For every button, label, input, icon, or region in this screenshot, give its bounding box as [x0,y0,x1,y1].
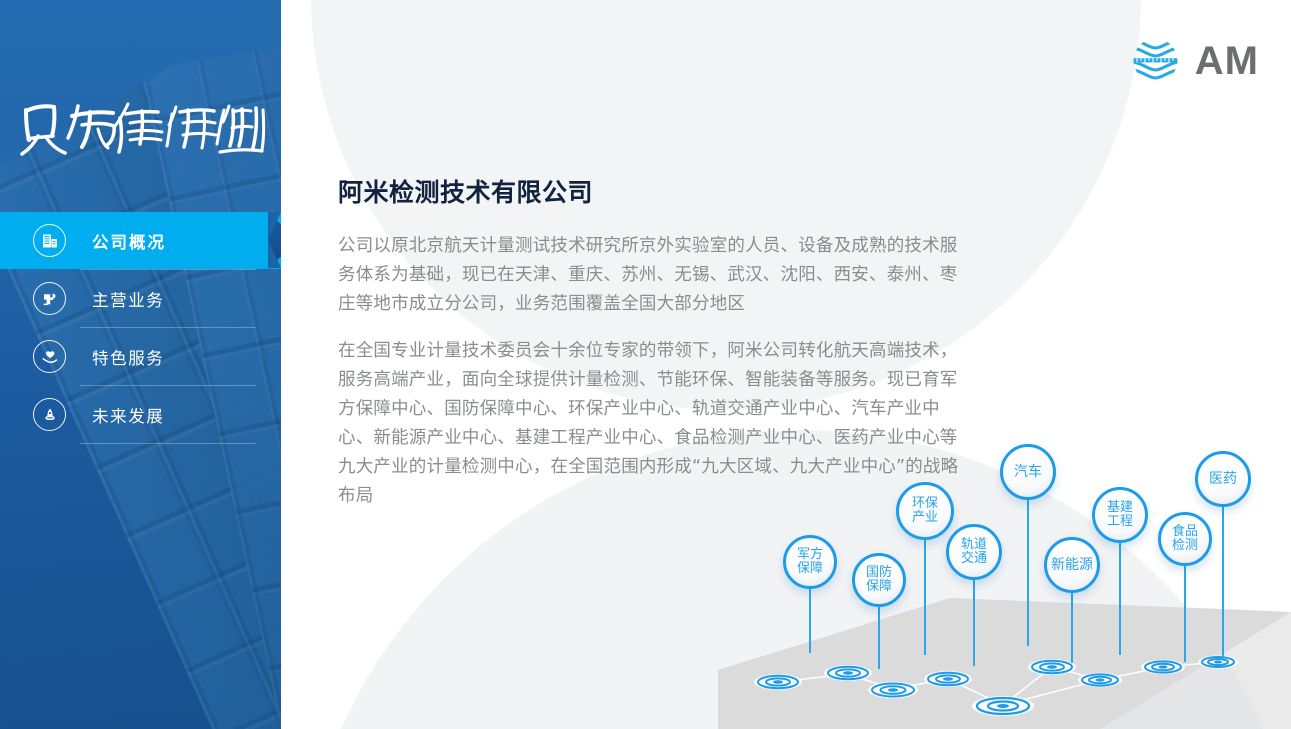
sidebar-item-main-business[interactable]: 主营业务 [0,270,281,327]
slogan-handwriting [20,92,270,164]
page-title: 阿米检测技术有限公司 [338,173,593,209]
sidebar-item-label: 特色服务 [92,345,164,369]
bubble-label: 新能源 [1051,558,1093,573]
industry-centers-infographic: 军方保障国防保障环保产业轨道交通汽车新能源基建工程食品检测医药 [700,430,1291,729]
industry-bubble[interactable]: 轨道交通 [946,524,1002,580]
nav-divider [80,443,256,444]
sidebar-nav: 公司概况 主营业务 [0,212,281,444]
bubble-stem [1027,500,1029,646]
industry-bubble[interactable]: 国防保障 [852,553,906,607]
bubble-label: 轨道交通 [961,538,987,565]
paragraph-company-history: 公司以原北京航天计量测试技术研究所京外实验室的人员、设备及成熟的技术服务体系为基… [338,232,963,319]
bubble-label: 食品检测 [1172,525,1198,552]
hand-heart-icon [33,340,66,373]
bubble-label: 环保产业 [912,497,938,524]
industry-bubble[interactable]: 汽车 [1000,444,1056,500]
building-icon [33,224,66,257]
active-fold [268,212,281,269]
globe-wave-icon [1129,34,1182,87]
industry-bubble[interactable]: 食品检测 [1158,512,1212,566]
bubble-label: 基建工程 [1107,501,1133,528]
bubble-stem [809,589,811,653]
sidebar-item-label: 主营业务 [92,287,164,311]
industry-bubble[interactable]: 基建工程 [1092,487,1148,543]
sidebar-item-label: 公司概况 [92,229,166,253]
bubble-stem [1184,566,1186,662]
logo-wordmark: AM [1195,41,1259,81]
sidebar-item-featured-service[interactable]: 特色服务 [0,328,281,385]
industry-bubble[interactable]: 新能源 [1044,537,1100,593]
industry-bubble[interactable]: 环保产业 [896,482,954,540]
bubble-label: 医药 [1209,472,1237,487]
bubble-stem [924,540,926,655]
bubble-label: 军方保障 [797,548,823,575]
sidebar-item-label: 未来发展 [92,403,164,427]
bubble-stem [878,607,880,669]
bubble-stem [1222,507,1224,657]
rocket-icon [33,398,66,431]
sidebar-item-company-overview[interactable]: 公司概况 [0,212,281,269]
bubble-stem [1119,543,1121,655]
bubble-label: 国防保障 [866,566,892,593]
bubble-label: 汽车 [1014,465,1042,480]
sidebar-item-future-development[interactable]: 未来发展 [0,386,281,443]
brand-logo: AM [1129,34,1259,87]
sidebar: 公司概况 主营业务 [0,0,281,729]
bubble-stem [973,580,975,666]
instrument-icon [33,282,66,315]
bubble-stem [1071,593,1073,663]
slide-root: 公司概况 主营业务 [0,0,1291,729]
industry-bubble[interactable]: 医药 [1195,451,1251,507]
industry-bubble[interactable]: 军方保障 [783,535,837,589]
